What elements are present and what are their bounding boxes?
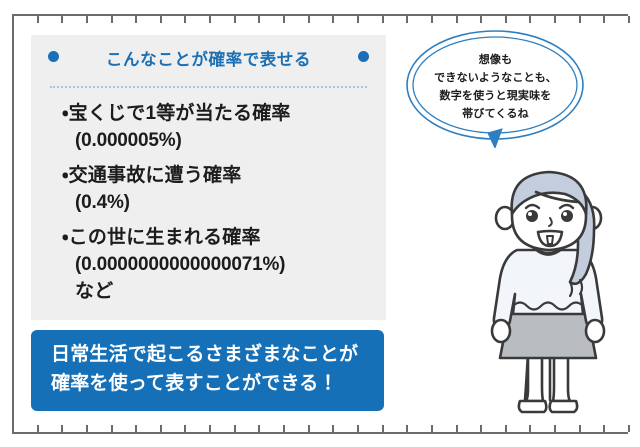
list-item-label: ・交通事故に遭う確率 <box>62 163 372 190</box>
bubble-line-2: できないようなことも、 <box>404 69 587 87</box>
ruler-tick <box>529 425 531 432</box>
list-item-label: ・宝くじで1等が当たる確率 <box>62 101 372 128</box>
ruler-tick <box>579 425 581 432</box>
ruler-tick <box>505 16 507 23</box>
bubble-line-3: 数字を使うと現実味を <box>404 87 587 105</box>
list-item: ・交通事故に遭う確率 (0.4%) <box>62 163 372 217</box>
list-item-value: (0.000005%) <box>62 128 372 155</box>
ruler-tick <box>86 16 88 23</box>
ruler-tick <box>431 16 433 23</box>
ruler-tick <box>456 16 458 23</box>
ruler-tick <box>283 425 285 432</box>
list-item-label: ・この世に生まれる確率 <box>62 225 372 252</box>
ruler-tick <box>160 16 162 23</box>
ruler-tick <box>382 16 384 23</box>
ruler-tick <box>184 16 186 23</box>
ruler-tick <box>135 16 137 23</box>
ruler-tick <box>184 425 186 432</box>
ruler-tick <box>357 16 359 23</box>
ruler-tick <box>111 16 113 23</box>
ruler-tick <box>431 425 433 432</box>
ruler-tick <box>357 425 359 432</box>
ruler-tick <box>209 425 211 432</box>
examples-list: ・宝くじで1等が当たる確率 (0.000005%) ・交通事故に遭う確率 (0.… <box>62 101 372 314</box>
woman-illustration <box>470 158 630 420</box>
ruler-tick <box>603 16 605 23</box>
speech-bubble-text: 想像も できないようなことも、 数字を使うと現実味を 帯びてくるね <box>404 51 587 124</box>
ruler-tick <box>505 425 507 432</box>
panel-divider <box>50 86 367 88</box>
ruler-tick <box>111 425 113 432</box>
ruler-tick <box>308 425 310 432</box>
ruler-tick <box>209 16 211 23</box>
ruler-tick <box>37 425 39 432</box>
ruler-tick <box>603 425 605 432</box>
ruler-tick <box>135 425 137 432</box>
panel-title: こんなことが確率で表せる <box>31 46 386 70</box>
bubble-line-1: 想像も <box>404 51 587 69</box>
ruler-tick <box>332 16 334 23</box>
ruler-tick <box>37 16 39 23</box>
ruler-bottom-line <box>12 432 628 434</box>
ruler-tick <box>283 16 285 23</box>
list-item-value: (0.4%) <box>62 190 372 217</box>
bubble-line-4: 帯びてくるね <box>404 105 587 123</box>
list-item: ・この世に生まれる確率 (0.0000000000000071%) など <box>62 225 372 306</box>
ruler-tick <box>12 16 14 23</box>
ruler-tick <box>406 16 408 23</box>
woman-figure-shape <box>470 158 630 420</box>
ruler-tick <box>160 425 162 432</box>
ruler-tick <box>480 425 482 432</box>
ruler-left-line <box>12 14 14 434</box>
ruler-tick <box>480 16 482 23</box>
banner-line-1: 日常生活で起こるさまざまなことが <box>51 341 384 370</box>
ruler-top-line <box>12 14 628 16</box>
ruler-tick <box>234 425 236 432</box>
speech-bubble: 想像も できないようなことも、 数字を使うと現実味を 帯びてくるね <box>404 27 587 148</box>
ruler-tick <box>554 425 556 432</box>
ruler-tick <box>529 16 531 23</box>
ruler-tick <box>456 425 458 432</box>
ruler-tick <box>332 425 334 432</box>
ruler-tick <box>12 425 14 432</box>
ruler-tick <box>406 425 408 432</box>
ruler-tick <box>308 16 310 23</box>
list-item-suffix: など <box>62 279 372 306</box>
examples-panel: こんなことが確率で表せる ・宝くじで1等が当たる確率 (0.000005%) ・… <box>31 35 386 320</box>
ruler-tick <box>258 425 260 432</box>
ruler-tick <box>579 16 581 23</box>
ruler-tick <box>61 425 63 432</box>
conclusion-banner: 日常生活で起こるさまざまなことが 確率を使って表すことができる！ <box>31 330 384 411</box>
ruler-tick <box>258 16 260 23</box>
ruler-tick <box>382 425 384 432</box>
ruler-tick <box>628 425 630 432</box>
banner-line-2: 確率を使って表すことができる！ <box>51 370 384 399</box>
bullet-dot-right-icon <box>358 51 369 62</box>
ruler-tick <box>234 16 236 23</box>
ruler-tick <box>61 16 63 23</box>
ruler-tick <box>86 425 88 432</box>
panel-header: こんなことが確率で表せる <box>31 35 386 77</box>
list-item: ・宝くじで1等が当たる確率 (0.000005%) <box>62 101 372 155</box>
illustration-page: こんなことが確率で表せる ・宝くじで1等が当たる確率 (0.000005%) ・… <box>0 0 640 447</box>
ruler-tick <box>554 16 556 23</box>
ruler-tick <box>628 16 630 23</box>
list-item-value: (0.0000000000000071%) <box>62 252 372 279</box>
